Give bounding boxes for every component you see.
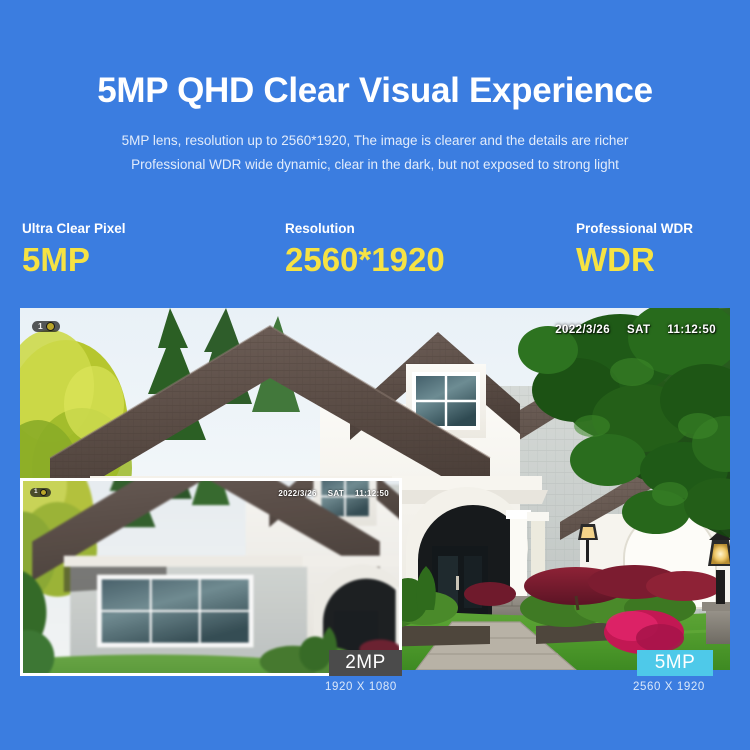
caption-5mp-resolution: 2560 X 1920 — [633, 681, 705, 693]
spec-professional-wdr: Professional WDR WDR — [576, 222, 693, 278]
spec-label: Ultra Clear Pixel — [22, 222, 126, 236]
inset-camera-view-2mp: 1 2022/3/26 SAT 11:12:50 — [20, 478, 402, 676]
subtitle-line-1: 5MP lens, resolution up to 2560*1920, Th… — [0, 129, 750, 154]
header-block: 5MP QHD Clear Visual Experience 5MP lens… — [0, 0, 750, 178]
record-indicator-icon — [46, 322, 55, 331]
spec-row: Ultra Clear Pixel 5MP Resolution 2560*19… — [0, 222, 750, 292]
spec-value: 5MP — [22, 241, 126, 279]
osd-date: 2022/3/26 — [278, 489, 316, 498]
subtitle-block: 5MP lens, resolution up to 2560*1920, Th… — [0, 129, 750, 178]
spec-label: Professional WDR — [576, 222, 693, 236]
osd-weekday: SAT — [328, 489, 344, 498]
spec-ultra-clear-pixel: Ultra Clear Pixel 5MP — [22, 222, 126, 278]
spec-label: Resolution — [285, 222, 445, 236]
badge-5mp: 5MP — [637, 650, 713, 676]
osd-time: 11:12:50 — [667, 324, 716, 336]
spec-value: 2560*1920 — [285, 241, 445, 279]
caption-2mp-resolution: 1920 X 1080 — [325, 681, 397, 693]
record-indicator-icon — [40, 489, 47, 496]
osd-date: 2022/3/26 — [555, 324, 610, 336]
channel-number: 1 — [38, 322, 43, 331]
inset-image-clip — [23, 481, 399, 673]
subtitle-line-2: Professional WDR wide dynamic, clear in … — [0, 153, 750, 178]
channel-number: 1 — [34, 489, 38, 496]
channel-badge-inset: 1 — [30, 488, 51, 497]
flowering-shrub — [604, 610, 684, 654]
house-scene-image-lowres — [23, 481, 399, 673]
spec-resolution: Resolution 2560*1920 — [285, 222, 445, 278]
osd-timestamp-main: 2022/3/26 SAT 11:12:50 — [555, 324, 716, 336]
badge-2mp: 2MP — [329, 650, 402, 676]
spec-value: WDR — [576, 241, 693, 279]
osd-weekday: SAT — [627, 324, 650, 336]
osd-time: 11:12:50 — [355, 489, 389, 498]
channel-badge: 1 — [32, 321, 60, 332]
osd-timestamp-inset: 2022/3/26 SAT 11:12:50 — [278, 489, 389, 498]
page-title: 5MP QHD Clear Visual Experience — [0, 72, 750, 111]
